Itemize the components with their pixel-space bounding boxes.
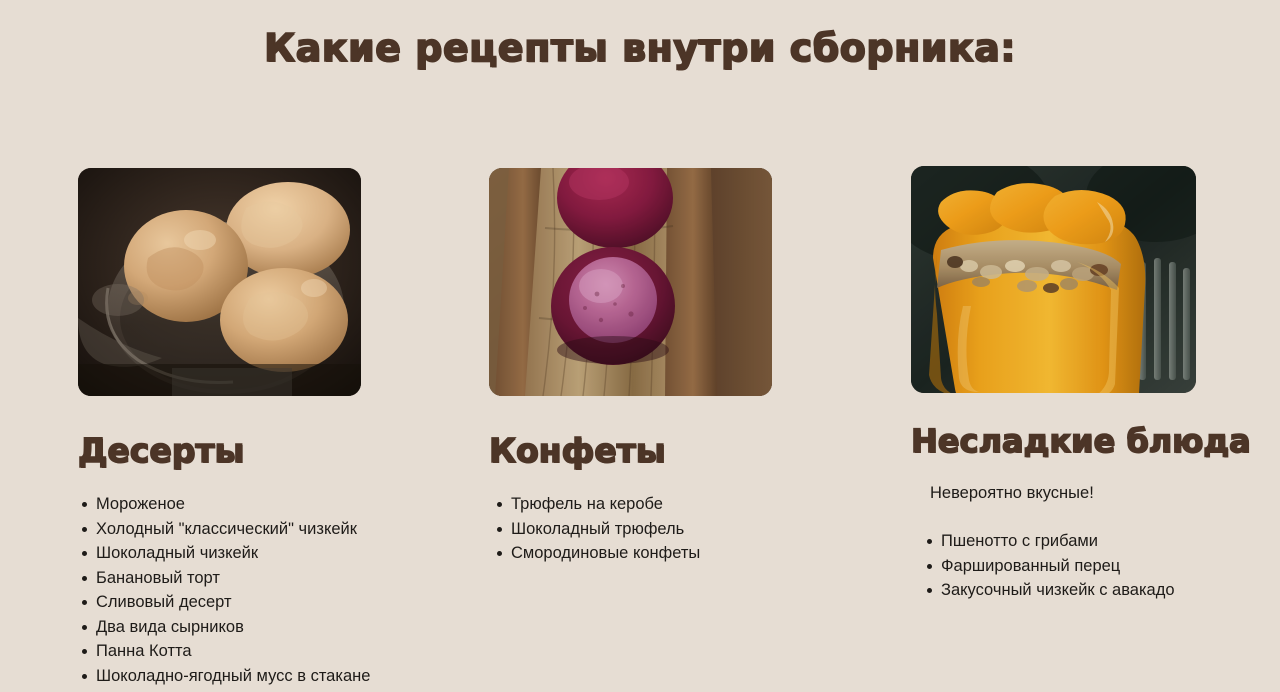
list-item: Шоколадный чизкейк [78,545,370,562]
recipe-column-desserts: Десерты Мороженое Холодный "классический… [78,0,478,692]
stuffed-pepper-image [911,166,1196,393]
recipe-column-candies: Конфеты Трюфель на керобе Шоколадный трю… [489,0,889,692]
column-heading-desserts: Десерты [78,431,244,470]
recipe-list-desserts: Мороженое Холодный "классический" чизкей… [78,496,370,692]
list-item: Шоколадный трюфель [489,521,700,538]
list-item: Холодный "классический" чизкейк [78,521,370,538]
ice-cream-image [78,168,361,396]
list-item: Пшенотто с грибами [919,533,1175,550]
list-item: Трюфель на керобе [489,496,700,513]
column-heading-candies: Конфеты [489,431,666,470]
truffles-image [489,168,772,396]
list-item: Панна Котта [78,643,370,660]
recipe-list-savory: Пшенотто с грибами Фаршированный перец З… [919,533,1175,607]
list-item: Банановый торт [78,570,370,587]
photo-ice-cream [78,168,361,396]
list-item: Фаршированный перец [919,558,1175,575]
list-item: Мороженое [78,496,370,513]
recipe-columns: Десерты Мороженое Холодный "классический… [0,0,1280,692]
list-item: Смородиновые конфеты [489,545,700,562]
column-heading-savory: Несладкие блюда [911,422,1251,460]
list-item: Закусочный чизкейк с авакадо [919,582,1175,599]
recipe-column-savory: Несладкие блюда Невероятно вкусные! Пшен… [911,0,1280,692]
photo-stuffed-pepper [911,166,1196,393]
photo-truffles [489,168,772,396]
list-item: Сливовый десерт [78,594,370,611]
savory-subtitle: Невероятно вкусные! [930,484,1094,503]
recipe-list-candies: Трюфель на керобе Шоколадный трюфель Смо… [489,496,700,570]
list-item: Два вида сырников [78,619,370,636]
list-item: Шоколадно-ягодный мусс в стакане [78,668,370,685]
